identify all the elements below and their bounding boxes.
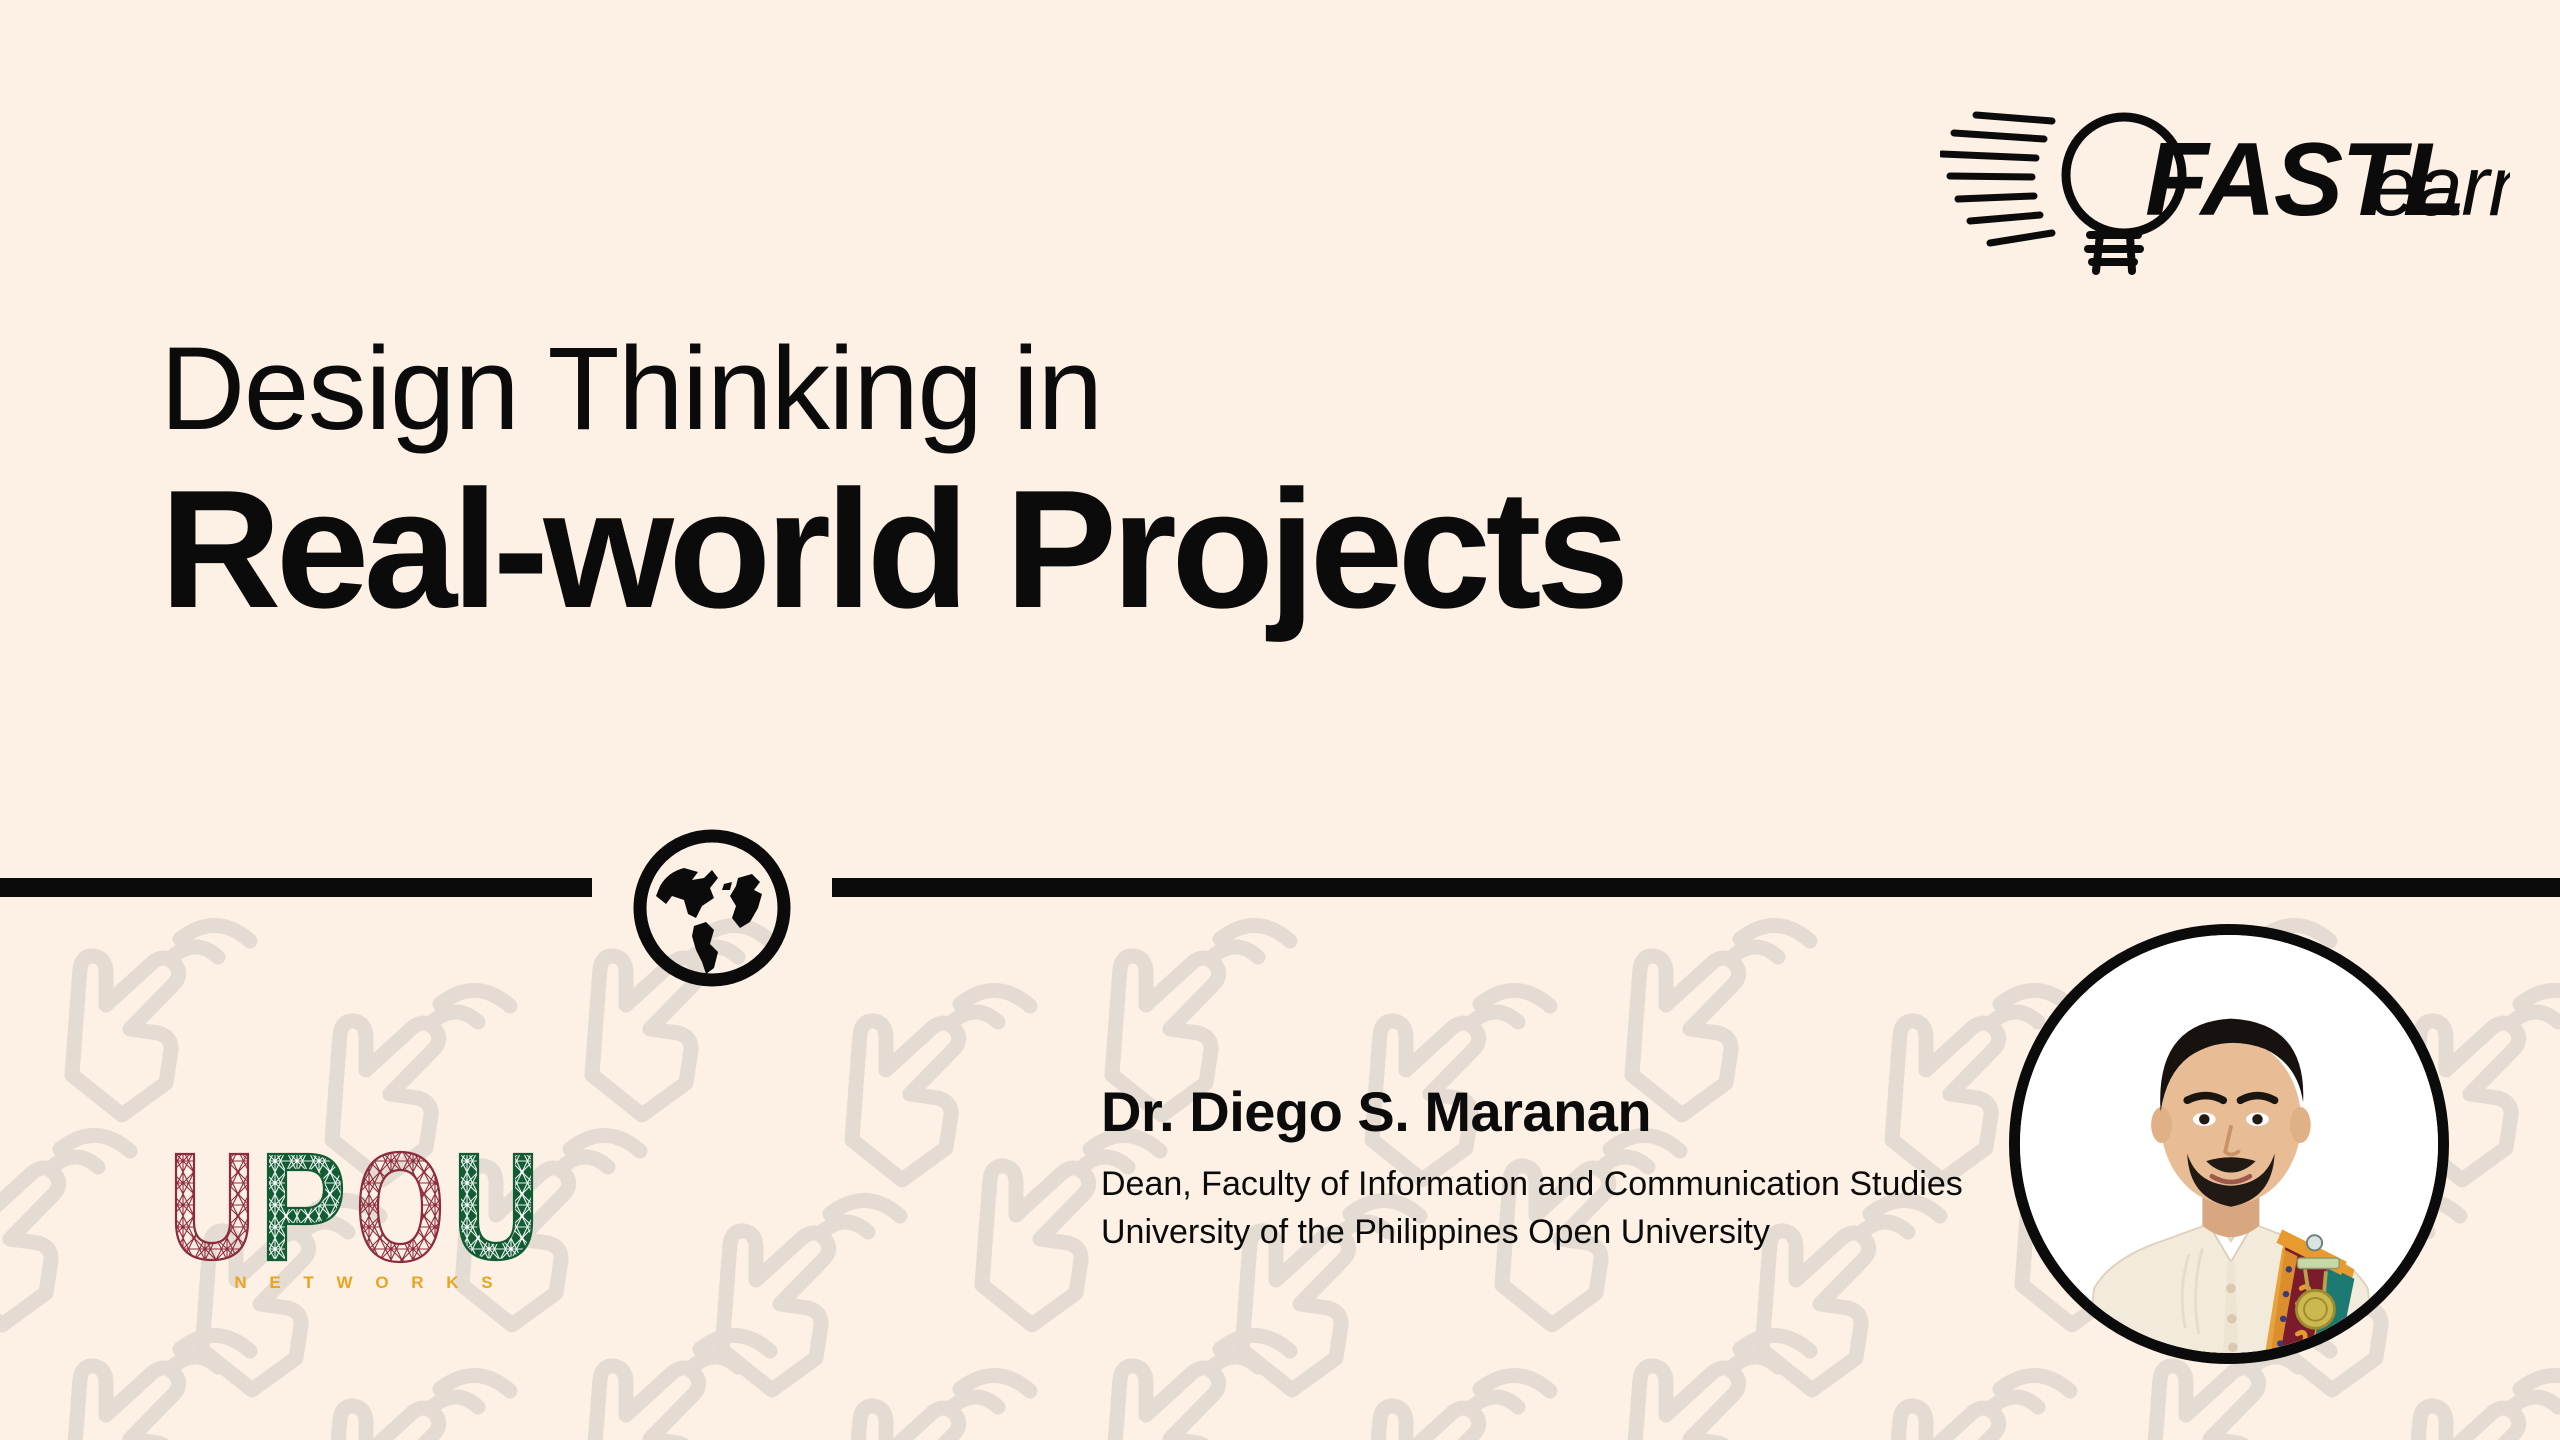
upou-networks-logo: N E T W O R K S	[168, 1136, 568, 1296]
title-line-1: Design Thinking in	[160, 330, 1624, 448]
upou-tagline: N E T W O R K S	[234, 1273, 501, 1292]
upou-letter-u2	[460, 1154, 532, 1260]
divider	[0, 866, 2560, 906]
speaker-affiliation-line-1: Dean, Faculty of Information and Communi…	[1101, 1160, 1963, 1208]
divider-bar-left	[0, 878, 592, 897]
speaker-affiliation-line-2: University of the Philippines Open Unive…	[1101, 1208, 1963, 1256]
title-line-2: Real-world Projects	[160, 464, 1624, 635]
fastlearn-logo: FASTL earn	[1940, 75, 2510, 275]
globe-icon	[626, 822, 798, 994]
page-title: Design Thinking in Real-world Projects	[160, 330, 1624, 635]
upou-letter-u1	[176, 1154, 248, 1260]
speaker-portrait	[2009, 924, 2449, 1364]
upou-letter-o	[360, 1152, 440, 1262]
speaker-block: Dr. Diego S. Maranan Dean, Faculty of In…	[1101, 1083, 1963, 1256]
divider-bar-right	[832, 878, 2560, 897]
title-slide: FASTL earn Design Thinking in Real-world…	[0, 0, 2560, 1440]
speaker-name: Dr. Diego S. Maranan	[1101, 1083, 1963, 1142]
fastlearn-word-light: earn	[2370, 139, 2510, 233]
upou-letter-p	[268, 1154, 342, 1260]
